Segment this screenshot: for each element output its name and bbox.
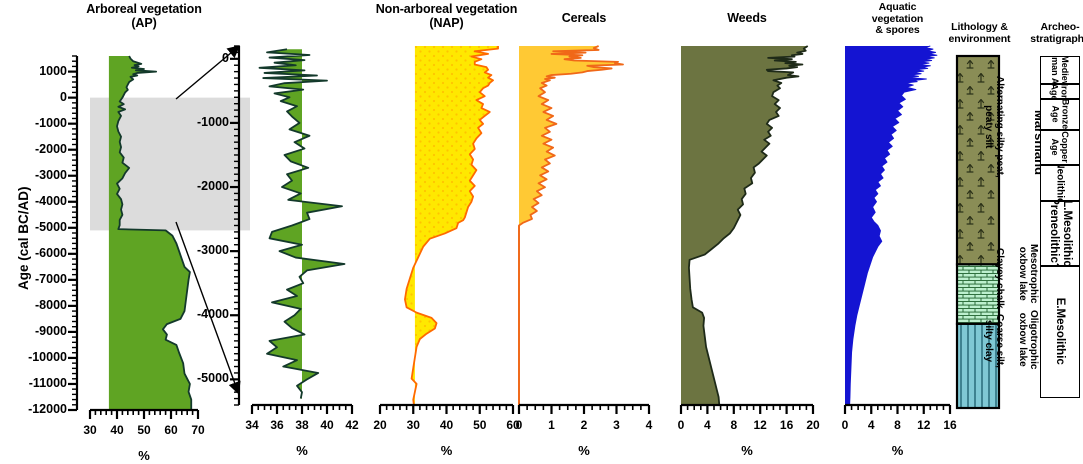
archeo-period-label: Neolithic: [1055, 165, 1066, 201]
lithology-desc-oligotrophic: Oligotrophicoxbow lake: [1017, 310, 1039, 369]
lithology-material-mesotrophic: Clayey chalk: [994, 248, 1005, 309]
archeo-period-label-line: Copper: [1060, 131, 1070, 163]
archeo-period-label: IronAge: [1050, 84, 1070, 98]
archeo-period-label: E.MedievalRoman Age: [1050, 56, 1070, 84]
lithology-label-line: oxbow lake: [1017, 310, 1028, 369]
lithology-label-line: silty clay: [983, 314, 994, 368]
archeo-period-label-line: Age: [1050, 84, 1060, 98]
archeostratigraphy-title-line: Archeo-: [1014, 22, 1083, 34]
archeo-period-label-line: Bronze: [1060, 99, 1070, 130]
archeo-period-label: CopperAge: [1050, 131, 1070, 163]
archeostratigraphy-title: Archeo-stratigraphy: [1014, 22, 1083, 45]
lithology-desc-marshland: Alternating silty peat,peaty silt: [983, 76, 1005, 178]
archeo-period-label: L.MesolithicPreneolithic?: [1048, 201, 1073, 266]
archeo-period-label-line: Preneolithic?: [1048, 201, 1061, 266]
archeo-period-label-line: L.Mesolithic: [1060, 201, 1073, 266]
lithology-label-line: peaty silt: [983, 76, 994, 178]
archeo-period-box: BronzeAge: [1040, 99, 1080, 130]
lithology-column: [0, 0, 1083, 464]
archeostratigraphy-title-line: stratigraphy: [1014, 34, 1083, 46]
lithology-label-line: Coarse silt,: [994, 314, 1005, 368]
lithology-material-oligotrophic: Coarse silt,silty clay: [983, 314, 1005, 368]
archeo-period-box: E.Mesolithic: [1040, 266, 1080, 398]
archeo-period-label-line: Age: [1050, 99, 1060, 130]
archeo-period-label-line: Roman Age: [1050, 56, 1060, 84]
lithology-label-line: oxbow lake: [1017, 244, 1028, 303]
archeo-period-label-line: Age: [1050, 131, 1060, 163]
lithology-label-line: Clayey chalk: [994, 248, 1005, 309]
archeo-period-box: Neolithic: [1040, 165, 1080, 201]
archeo-period-box: E.MedievalRoman Age: [1040, 56, 1080, 84]
lithology-label-line: Oligotrophic: [1028, 310, 1039, 369]
archeo-period-label-line: E.Mesolithic: [1054, 298, 1067, 365]
archeo-period-label-line: Iron: [1060, 84, 1070, 98]
archeo-period-box: CopperAge: [1040, 130, 1080, 165]
archeo-period-label: BronzeAge: [1050, 99, 1070, 130]
archeo-period-box: L.MesolithicPreneolithic?: [1040, 201, 1080, 266]
lithology-desc-mesotrophic: Mesotrophicoxbow lake: [1017, 244, 1039, 303]
lithology-label-line: Mesotrophic: [1028, 244, 1039, 303]
archeo-period-label: E.Mesolithic: [1054, 298, 1067, 365]
archeo-period-label-line: E.Medieval: [1060, 56, 1070, 84]
archeo-period-label-line: Neolithic: [1055, 165, 1066, 201]
archeo-period-box: IronAge: [1040, 84, 1080, 98]
lithology-label-line: Alternating silty peat,: [994, 76, 1005, 178]
